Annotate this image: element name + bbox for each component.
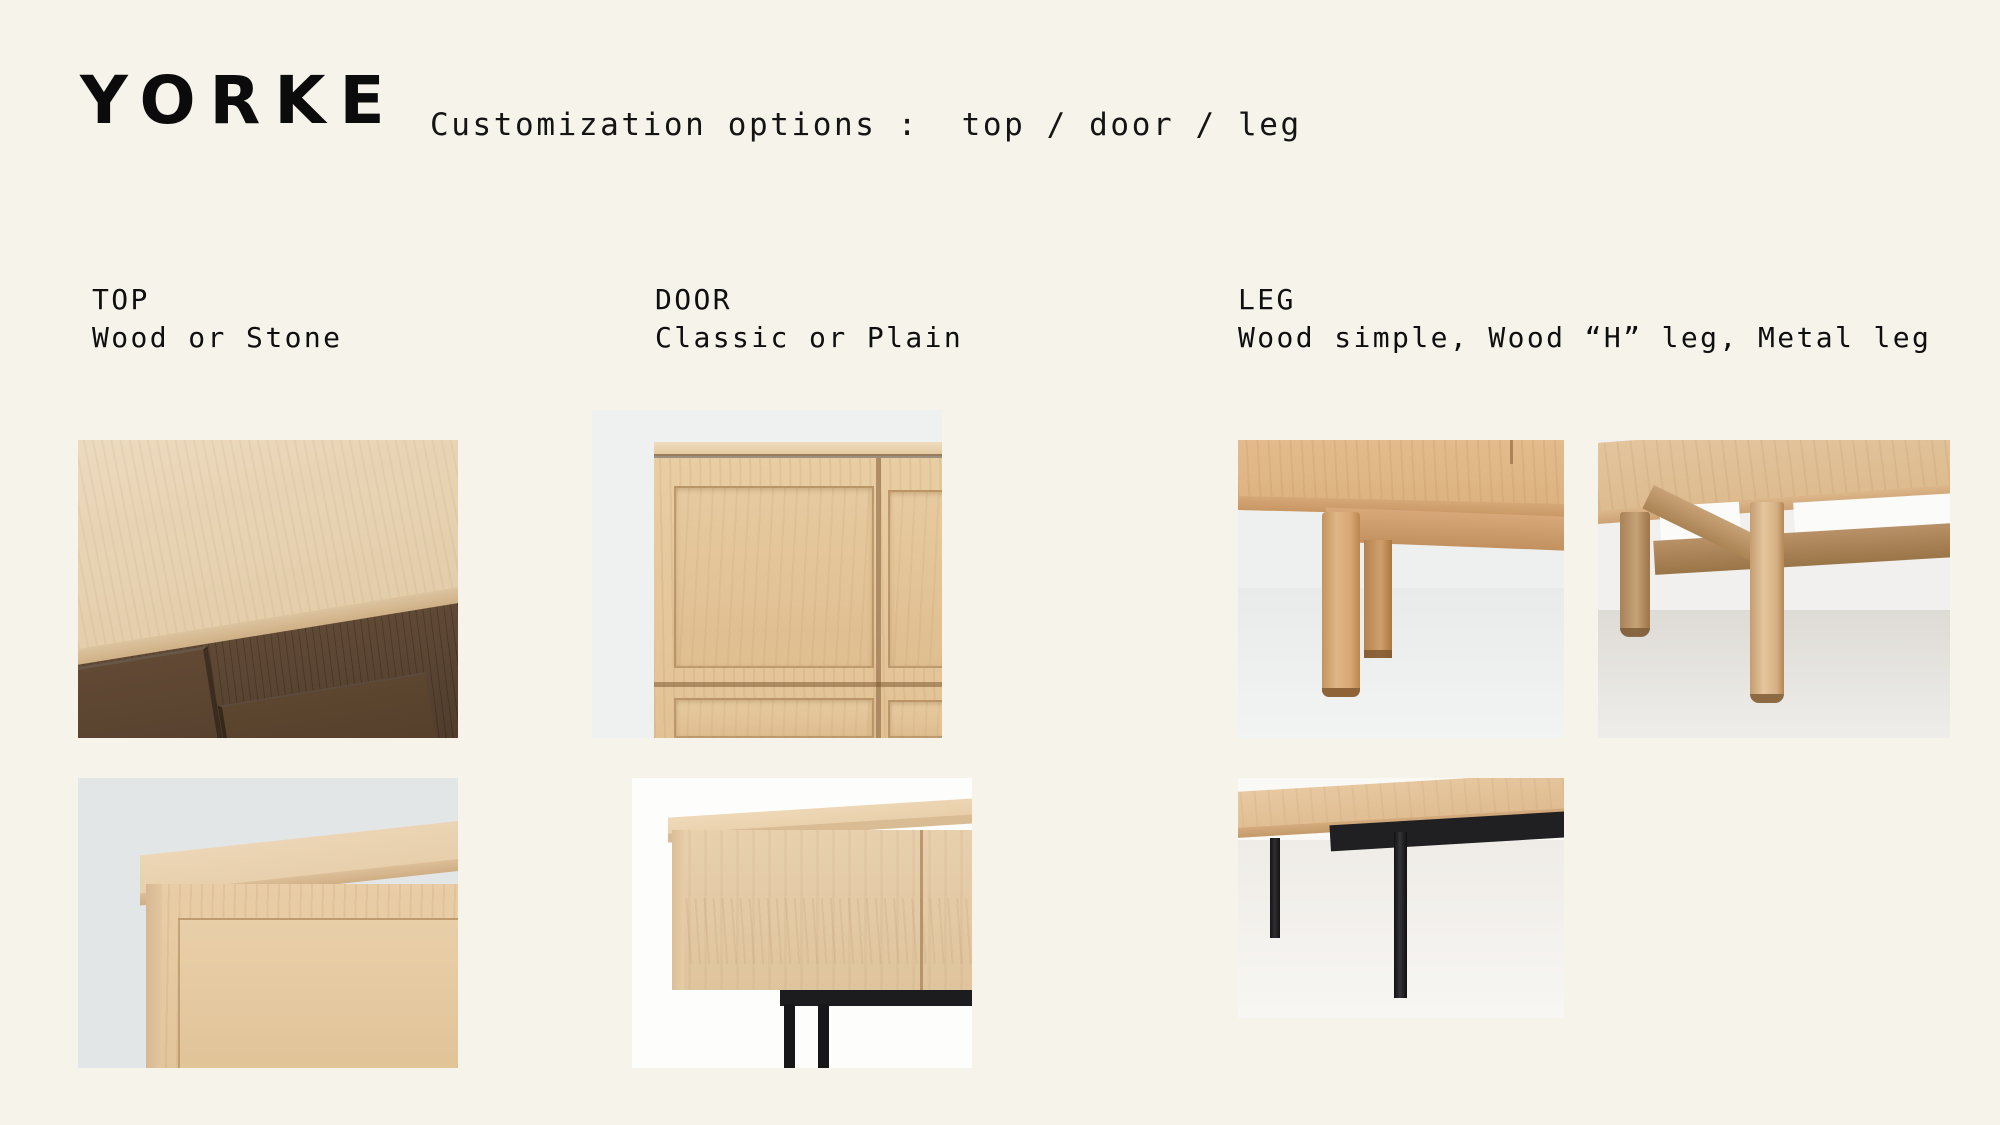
metal-base-frame bbox=[780, 990, 972, 1006]
image-metal-leg bbox=[1238, 778, 1564, 1018]
image-wood-h-leg bbox=[1598, 440, 1950, 738]
column-title-top: TOP bbox=[92, 282, 522, 318]
door-seam-vertical bbox=[876, 458, 881, 738]
metal-base-leg-left bbox=[784, 1004, 795, 1068]
wood-grain-band bbox=[672, 898, 972, 964]
classic-panel-lower-right bbox=[888, 700, 942, 738]
column-title-door: DOOR bbox=[655, 282, 1085, 318]
plain-door-seam bbox=[920, 830, 923, 990]
brand-logo: YORKE bbox=[80, 68, 399, 134]
cabinet-side-oak bbox=[146, 884, 162, 1068]
h-leg-front-foot bbox=[1750, 694, 1784, 703]
image-wood-top-oak-cabinet bbox=[78, 778, 458, 1068]
h-leg-rear-post bbox=[1620, 512, 1650, 636]
wood-leg-front bbox=[1322, 512, 1360, 696]
image-plain-door-flat-front bbox=[632, 778, 972, 1068]
classic-panel-upper-right bbox=[888, 490, 942, 668]
column-door: DOOR Classic or Plain bbox=[655, 282, 1085, 357]
wood-leg-rear bbox=[1364, 540, 1392, 658]
column-description-leg: Wood simple, Wood “H” leg, Metal leg bbox=[1238, 320, 1998, 356]
wood-leg-front-foot bbox=[1322, 688, 1360, 697]
image-stone-top-dark-cabinet bbox=[78, 440, 458, 738]
case-top-seam bbox=[1510, 440, 1513, 464]
column-description-top: Wood or Stone bbox=[92, 320, 522, 356]
sideboard-side-panel bbox=[672, 830, 684, 990]
door-seam-horizontal bbox=[654, 682, 942, 687]
column-title-leg: LEG bbox=[1238, 282, 1998, 318]
floor-surface bbox=[1238, 588, 1564, 738]
column-top: TOP Wood or Stone bbox=[92, 282, 522, 357]
metal-leg-rear bbox=[1270, 838, 1280, 938]
image-wood-simple-leg bbox=[1238, 440, 1564, 738]
classic-panel-lower-left bbox=[674, 698, 874, 738]
h-leg-front-post bbox=[1750, 502, 1784, 702]
page-subtitle: Customization options : top / door / leg bbox=[430, 110, 1302, 141]
wood-leg-rear-foot bbox=[1364, 650, 1392, 658]
image-classic-door-inset-panel bbox=[592, 410, 942, 738]
classic-panel-upper-left bbox=[674, 486, 874, 668]
page-header: YORKE Customization options : top / door… bbox=[0, 0, 2000, 200]
metal-base-leg-right bbox=[818, 1004, 829, 1068]
column-description-door: Classic or Plain bbox=[655, 320, 1085, 356]
metal-leg-front bbox=[1394, 832, 1407, 998]
h-leg-rear-foot bbox=[1620, 628, 1650, 637]
column-leg: LEG Wood simple, Wood “H” leg, Metal leg bbox=[1238, 282, 1998, 357]
cabinet-panel-oak bbox=[178, 918, 458, 1068]
